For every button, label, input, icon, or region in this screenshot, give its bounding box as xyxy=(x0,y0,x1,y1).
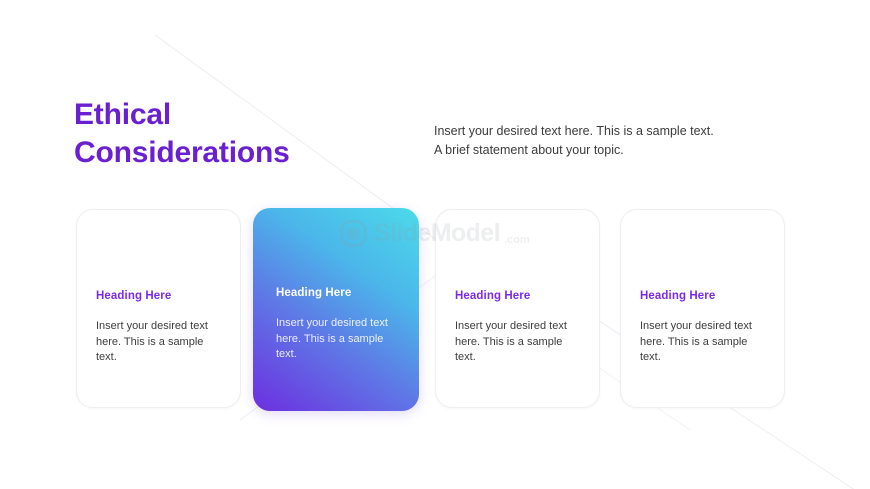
slide-canvas: Ethical Considerations Insert your desir… xyxy=(0,0,870,489)
card-heading: Heading Here xyxy=(455,290,583,302)
card-content: Heading Here Insert your desired text he… xyxy=(455,290,583,366)
card-heading: Heading Here xyxy=(96,290,224,302)
card-body-text: Insert your desired text here. This is a… xyxy=(96,319,224,366)
feature-card-2-highlighted[interactable]: Heading Here Insert your desired text he… xyxy=(253,208,419,411)
feature-card-4[interactable]: Heading Here Insert your desired text he… xyxy=(620,209,785,408)
feature-card-3[interactable]: Heading Here Insert your desired text he… xyxy=(435,209,600,408)
card-heading: Heading Here xyxy=(276,287,403,299)
card-content: Heading Here Insert your desired text he… xyxy=(640,290,768,366)
card-content: Heading Here Insert your desired text he… xyxy=(276,287,403,363)
intro-paragraph: Insert your desired text here. This is a… xyxy=(434,122,774,161)
card-body-text: Insert your desired text here. This is a… xyxy=(640,319,768,366)
card-body-text: Insert your desired text here. This is a… xyxy=(276,316,403,363)
card-content: Heading Here Insert your desired text he… xyxy=(96,290,224,366)
page-title: Ethical Considerations xyxy=(74,96,394,173)
card-body-text: Insert your desired text here. This is a… xyxy=(455,319,583,366)
card-heading: Heading Here xyxy=(640,290,768,302)
feature-card-1[interactable]: Heading Here Insert your desired text he… xyxy=(76,209,241,408)
